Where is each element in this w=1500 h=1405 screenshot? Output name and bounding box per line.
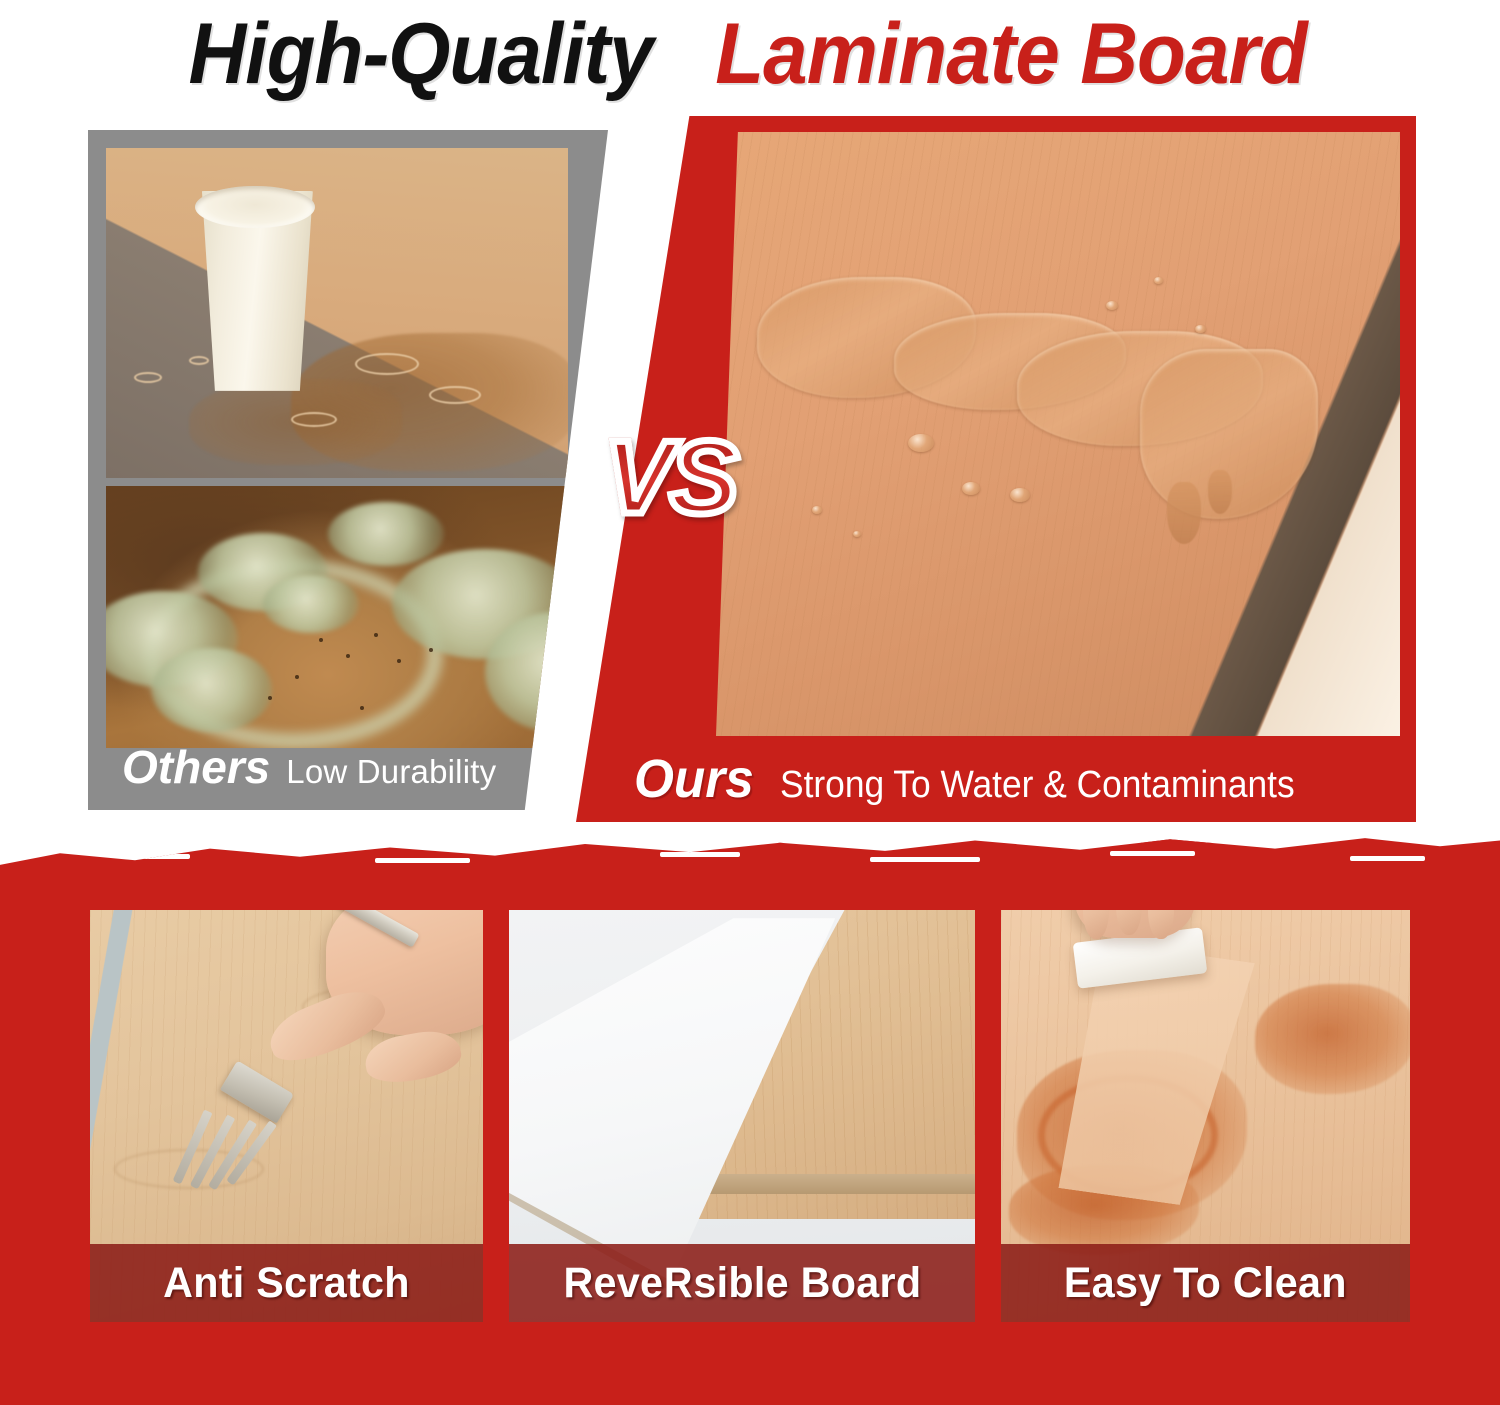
finger: [362, 1026, 465, 1088]
feature-label-text: Anti Scratch: [163, 1259, 410, 1308]
feature-card-easy-to-clean: Easy To Clean: [1001, 910, 1410, 1322]
water-droplet-2: [962, 482, 980, 495]
water-droplet-5: [1154, 277, 1163, 284]
mold-scene: [106, 486, 568, 748]
mold-blob-7: [263, 575, 359, 633]
feature-card-reversible-board: ReveRsible Board: [509, 910, 975, 1322]
spill-rim-3: [291, 412, 337, 427]
features-section: Anti Scratch ReveRsible Board: [0, 823, 1500, 1405]
others-title: Others: [122, 740, 270, 794]
feature-label-text: Easy To Clean: [1064, 1259, 1347, 1308]
brush-gap: [660, 852, 740, 857]
others-spill-photo: [106, 148, 568, 478]
wood-sheet-edge: [677, 1174, 975, 1195]
mold-speck: [397, 659, 401, 663]
water-drip-1: [1167, 482, 1201, 544]
ours-title: Ours: [634, 748, 754, 810]
ours-board-photo: [716, 132, 1400, 736]
water-droplet-6: [812, 506, 822, 514]
vs-badge: VS: [604, 426, 735, 530]
others-mold-photo: [106, 486, 568, 748]
feature-card-anti-scratch: Anti Scratch: [90, 910, 483, 1322]
mold-speck: [346, 654, 350, 658]
others-photo-stack: [106, 148, 568, 748]
comparison-section: Others Low Durability: [0, 108, 1500, 823]
water-droplet-3: [1010, 488, 1030, 502]
brush-fleck: [720, 837, 890, 843]
water-droplet-8: [1195, 325, 1206, 333]
others-caption: Others Low Durability: [106, 740, 576, 802]
others-subtitle: Low Durability: [286, 753, 496, 791]
mold-speck: [268, 696, 272, 700]
spill-rim-2: [429, 386, 481, 404]
spill-rim-5: [189, 356, 209, 365]
water-droplet-7: [853, 531, 861, 537]
brush-gap: [120, 854, 190, 859]
feature-label-text: ReveRsible Board: [563, 1259, 921, 1308]
laminate-board-scene: [716, 132, 1400, 736]
others-card: Others Low Durability: [88, 130, 608, 810]
spill-scene: [106, 148, 568, 478]
spill-rim-4: [134, 372, 162, 383]
mold-blob-3: [328, 502, 444, 566]
mold-speck: [374, 633, 378, 637]
fork-neck: [220, 1060, 294, 1123]
mold-speck: [319, 638, 323, 642]
brush-gap: [870, 857, 980, 862]
brush-fleck: [1140, 836, 1300, 843]
brush-fleck: [330, 838, 480, 844]
brush-gap: [1350, 856, 1425, 861]
sauce-stain-right: [1255, 984, 1410, 1094]
brush-fleck: [540, 829, 650, 836]
page-title-part-red: Laminate Board: [715, 11, 1306, 97]
water-droplet-4: [1106, 301, 1118, 310]
brush-fleck: [180, 830, 270, 836]
mold-blob-6: [152, 648, 272, 732]
page-title-part-black: High-Quality: [189, 11, 653, 97]
brush-fleck: [1335, 829, 1455, 835]
page-title: High-Quality Laminate Board: [0, 0, 1500, 108]
brush-fleck: [45, 835, 165, 842]
brush-gap: [1110, 851, 1195, 856]
water-droplet-1: [908, 434, 934, 452]
feature-label-anti-scratch: Anti Scratch: [90, 1244, 483, 1322]
label-suffix: sible Board: [693, 1259, 921, 1307]
reversed-r-glyph: R: [663, 1259, 692, 1308]
spill-rim-1: [355, 353, 419, 375]
ours-subtitle: Strong To Water & Contaminants: [780, 764, 1295, 807]
feature-label-reversible-board: ReveRsible Board: [509, 1244, 975, 1322]
label-prefix: Reve: [563, 1259, 663, 1307]
brush-gap: [375, 858, 470, 863]
feature-card-row: Anti Scratch ReveRsible Board: [90, 910, 1410, 1322]
brush-fleck: [945, 831, 1075, 837]
paper-cup-rim: [195, 186, 315, 228]
ours-caption: Ours Strong To Water & Contaminants: [634, 748, 1404, 812]
feature-label-easy-to-clean: Easy To Clean: [1001, 1244, 1410, 1322]
